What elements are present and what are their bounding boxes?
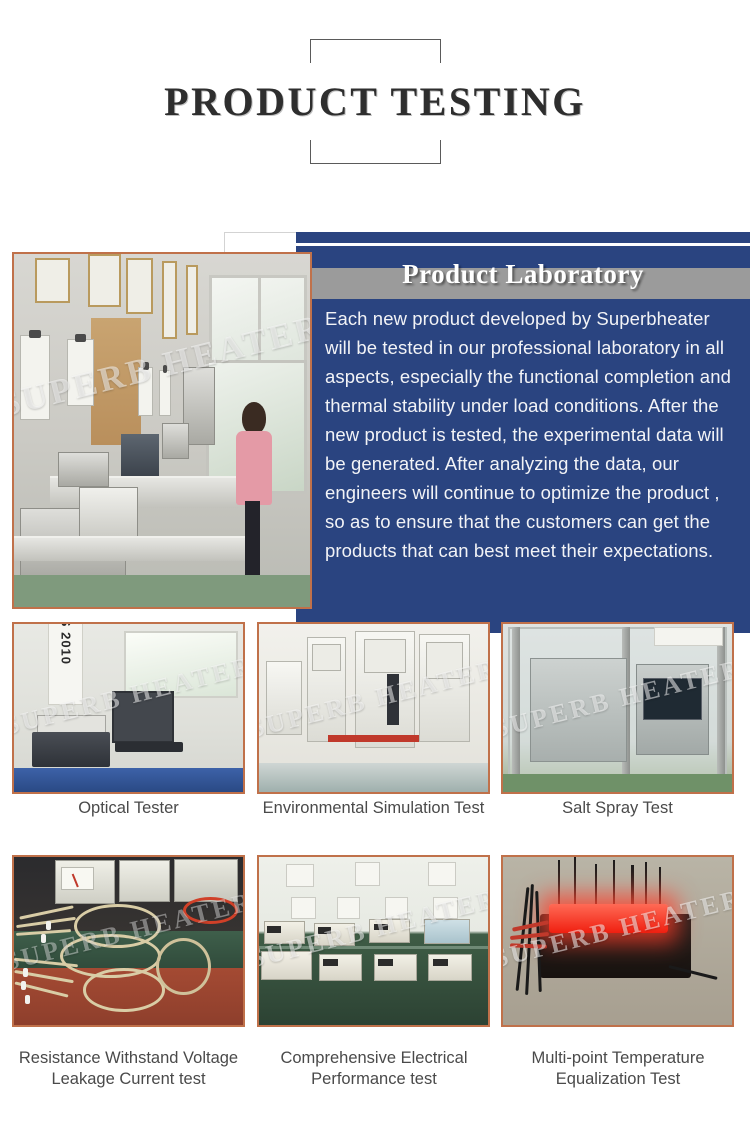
multi-point-temperature-photo: SUPERB HEATER [501,855,734,1027]
environmental-simulation-photo: SUPERB HEATER [257,622,490,794]
optical-tester-photo: MS 2010 SUPERB HEATER [12,622,245,794]
product-testing-page: PRODUCT TESTING Product Laboratory Each … [0,0,750,1133]
panel-top-divider [296,243,750,246]
caption-optical-tester: Optical Tester [12,798,245,819]
optical-tester-machine-label: MS 2010 [58,624,73,665]
caption-environmental-simulation: Environmental Simulation Test [251,798,496,819]
laboratory-interior-photo: SUPERB HEATER [12,252,312,609]
header-bracket-bottom-decoration [310,140,441,164]
panel-title: Product Laboratory [296,259,750,290]
resistance-withstand-voltage-photo: SUPERB HEATER [12,855,245,1027]
page-title: PRODUCT TESTING [0,78,750,125]
panel-body-text: Each new product developed by Superbheat… [325,304,739,565]
caption-line-2: Equalization Test [499,1069,737,1090]
caption-salt-spray: Salt Spray Test [501,798,734,819]
caption-line-2: Performance test [255,1069,493,1090]
caption-line-1: Resistance Withstand Voltage [6,1048,251,1069]
header-bracket-top-decoration [310,39,441,63]
caption-line-1: Multi-point Temperature [499,1048,737,1069]
product-laboratory-panel: Product Laboratory Each new product deve… [296,232,750,633]
comprehensive-electrical-photo: SUPERB HEATER [257,855,490,1027]
page-header: PRODUCT TESTING [0,0,750,200]
caption-comprehensive-electrical: Comprehensive Electrical Performance tes… [255,1048,493,1090]
salt-spray-test-photo: SUPERB HEATER [501,622,734,794]
caption-resistance-withstand-voltage: Resistance Withstand Voltage Leakage Cur… [6,1048,251,1090]
caption-line-1: Comprehensive Electrical [255,1048,493,1069]
caption-line-2: Leakage Current test [6,1069,251,1090]
caption-multi-point-temperature: Multi-point Temperature Equalization Tes… [499,1048,737,1090]
